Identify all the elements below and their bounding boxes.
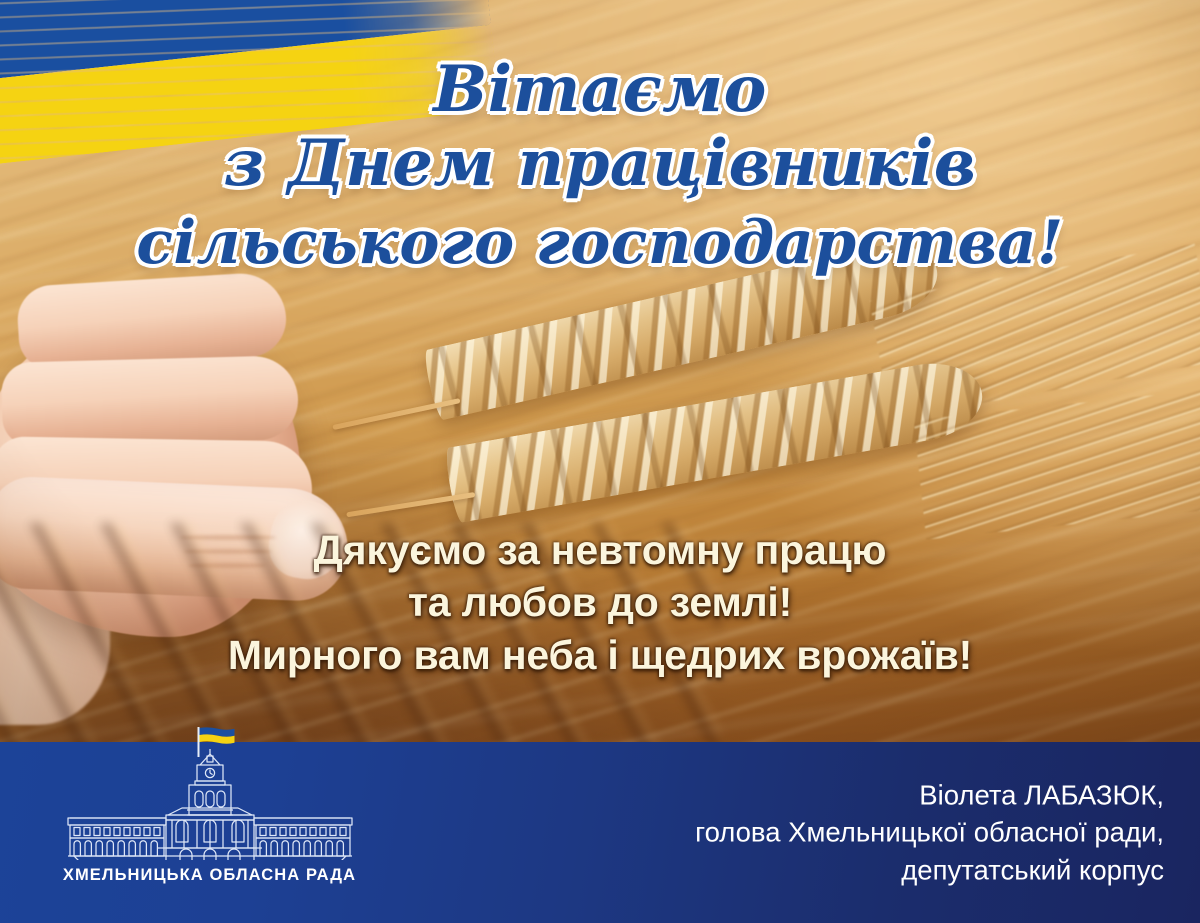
council-logo-caption: ХМЕЛЬНИЦЬКА ОБЛАСНА РАДА bbox=[63, 866, 356, 885]
signature-title: голова Хмельницької обласної ради, bbox=[695, 814, 1164, 852]
greeting-card-poster: Вітаємо з Днем працівників сільського го… bbox=[0, 0, 1200, 923]
ukraine-flag-icon bbox=[196, 727, 236, 757]
signature-block: Віолета ЛАБАЗЮК, голова Хмельницької обл… bbox=[695, 776, 1164, 889]
signature-name: Віолета ЛАБАЗЮК, bbox=[695, 776, 1164, 814]
council-logo: ХМЕЛЬНИЦЬКА ОБЛАСНА РАДА bbox=[52, 748, 367, 885]
khmelnytskyi-regional-council-building-icon bbox=[54, 748, 366, 860]
signature-body: депутатський корпус bbox=[695, 851, 1164, 889]
bottom-banner: ХМЕЛЬНИЦЬКА ОБЛАСНА РАДА Віолета ЛАБАЗЮК… bbox=[0, 742, 1200, 923]
